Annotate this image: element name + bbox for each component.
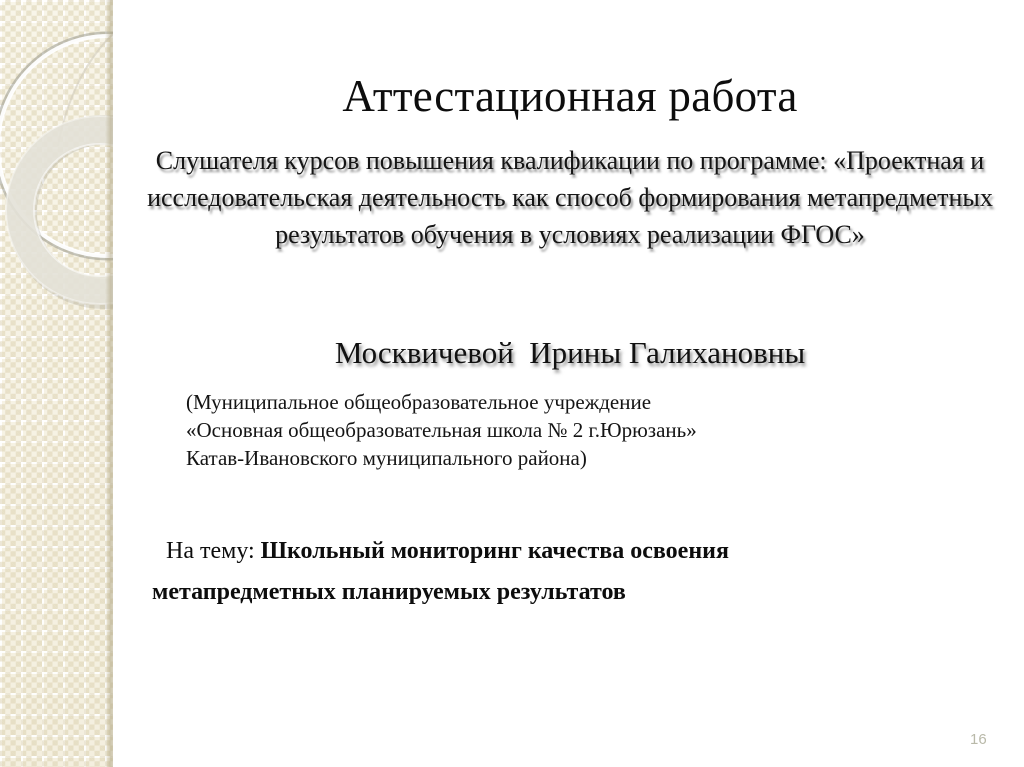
decorative-rings-group: [0, 0, 113, 767]
page-number: 16: [970, 731, 1010, 749]
band-right-edge-gradient: [105, 0, 113, 767]
institution-line: (Муниципальное общеобразовательное учреж…: [186, 388, 946, 416]
institution-line: «Основная общеобразовательная школа № 2 …: [186, 416, 946, 444]
course-program-subtitle: Слушателя курсов повышения квалификации …: [120, 142, 1020, 253]
author-name: Москвичевой Ирины Галихановны: [130, 334, 1010, 372]
page-title: Аттестационная работа: [130, 70, 1010, 122]
beige-woven-texture-band: [0, 0, 113, 767]
subtitle-line: условиях реализации ФГОС»: [539, 220, 865, 249]
slide-canvas: Аттестационная работа Слушателя курсов п…: [0, 0, 1024, 767]
topic-label: На тему:: [152, 538, 255, 564]
topic-block: На тему: Школьный мониторинг качества ос…: [152, 531, 912, 613]
subtitle-line: Слушателя курсов повышения квалификации …: [156, 146, 827, 175]
institution-block: (Муниципальное общеобразовательное учреж…: [186, 388, 946, 472]
institution-line: Катав-Ивановского муниципального района): [186, 444, 946, 472]
